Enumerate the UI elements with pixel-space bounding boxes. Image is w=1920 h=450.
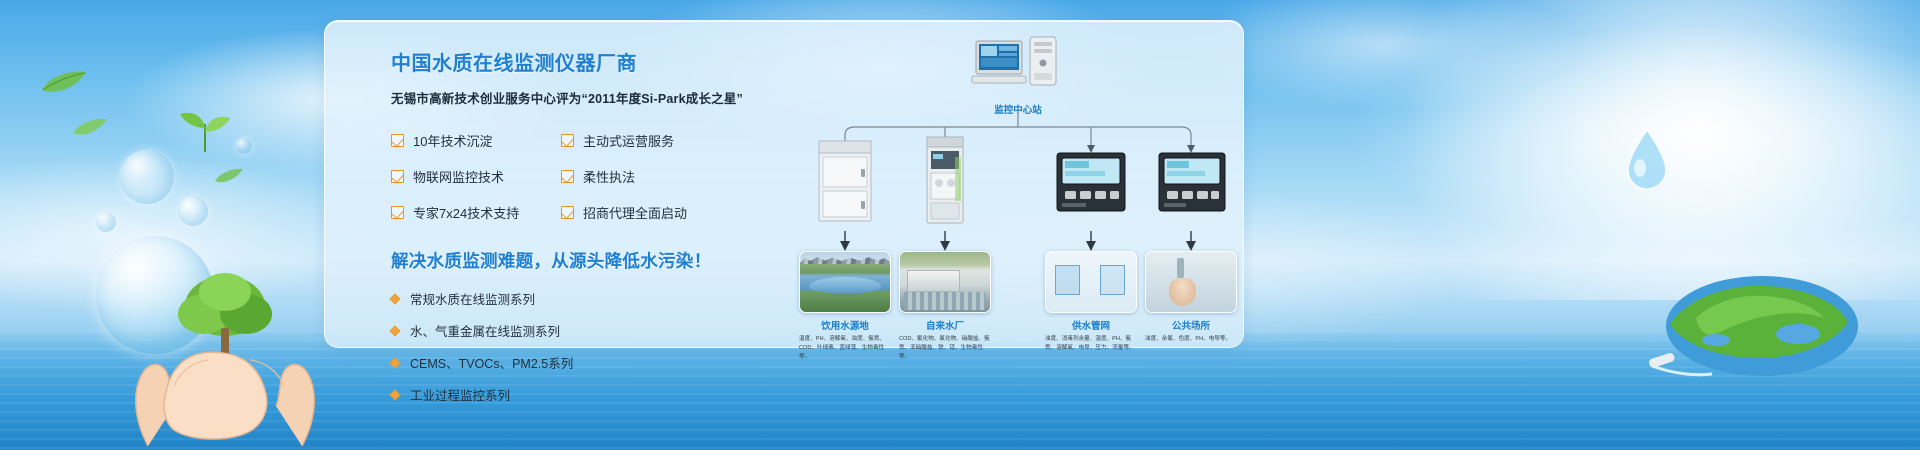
bubble-decoration bbox=[236, 138, 252, 154]
feature-label: 物联网监控技术 bbox=[413, 167, 504, 186]
feature-item: 柔性执法 bbox=[561, 167, 741, 186]
cabinet-analyzer-device bbox=[813, 139, 877, 230]
card-description: 浊度、消毒剂余量、温度、PH、氨氮、溶解氧、电导、压力、流量等。 bbox=[1045, 335, 1137, 353]
computer-icon bbox=[968, 35, 1068, 93]
feature-label: 专家7x24技术支持 bbox=[413, 203, 519, 222]
feature-item: 主动式运营服务 bbox=[561, 131, 741, 150]
bubble-decoration bbox=[96, 212, 116, 232]
water-droplet-icon bbox=[1624, 128, 1670, 197]
application-card: 公共场所 浊度、余氯、色度、PH、电导等。 bbox=[1145, 251, 1237, 344]
checkmark-icon bbox=[391, 170, 404, 183]
list-item-label: CEMS、TVOCs、PM2.5系列 bbox=[410, 353, 573, 372]
list-item-label: 水、气重金属在线监测系列 bbox=[410, 321, 560, 340]
system-diagram: 监控中心站 bbox=[805, 35, 1235, 345]
card-title: 饮用水源地 bbox=[799, 318, 891, 332]
device-row bbox=[805, 135, 1235, 227]
card-title: 供水管网 bbox=[1045, 318, 1137, 332]
feature-item: 专家7x24技术支持 bbox=[391, 203, 561, 222]
panel-controller-device bbox=[1157, 151, 1227, 218]
checkmark-icon bbox=[561, 170, 574, 183]
checkmark-icon bbox=[391, 134, 404, 147]
bubble-decoration bbox=[178, 196, 208, 226]
card-description: COD、氟化物、氯化物、硝酸盐、氨氮、亚硝酸盐、铁、锰、生物毒性等。 bbox=[899, 335, 991, 363]
list-item: 工业过程监控系列 bbox=[391, 385, 791, 404]
rack-analyzer-device bbox=[917, 135, 973, 232]
feature-item: 物联网监控技术 bbox=[391, 167, 561, 186]
card-image bbox=[1145, 251, 1237, 313]
hands-illustration bbox=[70, 210, 330, 450]
water-globe bbox=[96, 236, 214, 354]
page-subtitle: 无锡市高新技术创业服务中心评为“2011年度Si-Park成长之星” bbox=[391, 88, 791, 107]
card-title: 公共场所 bbox=[1145, 318, 1237, 332]
card-title: 自来水厂 bbox=[899, 318, 991, 332]
list-item: 常规水质在线监测系列 bbox=[391, 289, 791, 308]
feature-item: 10年技术沉淀 bbox=[391, 131, 561, 150]
application-card: 供水管网 浊度、消毒剂余量、温度、PH、氨氮、溶解氧、电导、压力、流量等。 bbox=[1045, 251, 1137, 353]
feature-item: 招商代理全面启动 bbox=[561, 203, 741, 222]
card-image bbox=[899, 251, 991, 313]
feature-label: 柔性执法 bbox=[583, 167, 635, 186]
card-description: 浊度、余氯、色度、PH、电导等。 bbox=[1145, 335, 1237, 344]
diamond-bullet-icon bbox=[389, 293, 400, 304]
sun-glow bbox=[1360, 0, 1920, 300]
list-item: 水、气重金属在线监测系列 bbox=[391, 321, 791, 340]
checkmark-icon bbox=[391, 206, 404, 219]
green-earth-illustration bbox=[1642, 248, 1872, 398]
diamond-bullet-icon bbox=[389, 357, 400, 368]
feature-label: 主动式运营服务 bbox=[583, 131, 674, 150]
card-image bbox=[799, 251, 891, 313]
application-card: 自来水厂 COD、氟化物、氯化物、硝酸盐、氨氮、亚硝酸盐、铁、锰、生物毒性等。 bbox=[899, 251, 991, 363]
diamond-bullet-icon bbox=[389, 325, 400, 336]
checkmark-icon bbox=[561, 134, 574, 147]
panel-text-column: 中国水质在线监测仪器厂商 无锡市高新技术创业服务中心评为“2011年度Si-Pa… bbox=[391, 47, 791, 404]
content-panel: 中国水质在线监测仪器厂商 无锡市高新技术创业服务中心评为“2011年度Si-Pa… bbox=[324, 20, 1244, 348]
monitoring-center-label: 监控中心站 bbox=[968, 102, 1068, 116]
card-image bbox=[1045, 251, 1137, 313]
feature-label: 招商代理全面启动 bbox=[583, 203, 687, 222]
checkmark-icon bbox=[561, 206, 574, 219]
list-item: CEMS、TVOCs、PM2.5系列 bbox=[391, 353, 791, 372]
list-item-label: 常规水质在线监测系列 bbox=[410, 289, 535, 308]
page-title: 中国水质在线监测仪器厂商 bbox=[391, 47, 791, 76]
list-item-label: 工业过程监控系列 bbox=[410, 385, 510, 404]
product-series-list: 常规水质在线监测系列 水、气重金属在线监测系列 CEMS、TVOCs、PM2.5… bbox=[391, 289, 791, 404]
leaf-icon bbox=[214, 168, 244, 185]
panel-controller-device bbox=[1055, 151, 1127, 218]
bubble-decoration bbox=[120, 150, 174, 204]
feature-label: 10年技术沉淀 bbox=[413, 131, 492, 150]
leaf-icon bbox=[72, 118, 108, 138]
monitoring-center-node: 监控中心站 bbox=[968, 35, 1068, 116]
leaf-icon bbox=[40, 70, 88, 96]
card-description: 温度、PH、溶解氧、浊度、氨氮、COD、叶绿素、蓝绿藻、生物毒性等。 bbox=[799, 335, 891, 363]
application-card: 饮用水源地 温度、PH、溶解氧、浊度、氨氮、COD、叶绿素、蓝绿藻、生物毒性等。 bbox=[799, 251, 891, 363]
diamond-bullet-icon bbox=[389, 389, 400, 400]
feature-checklist: 10年技术沉淀 主动式运营服务 物联网监控技术 柔性执法 专家7x24技术支持 … bbox=[391, 131, 791, 222]
sprout-icon bbox=[172, 108, 238, 152]
section-title: 解决水质监测难题，从源头降低水污染！ bbox=[391, 248, 791, 273]
